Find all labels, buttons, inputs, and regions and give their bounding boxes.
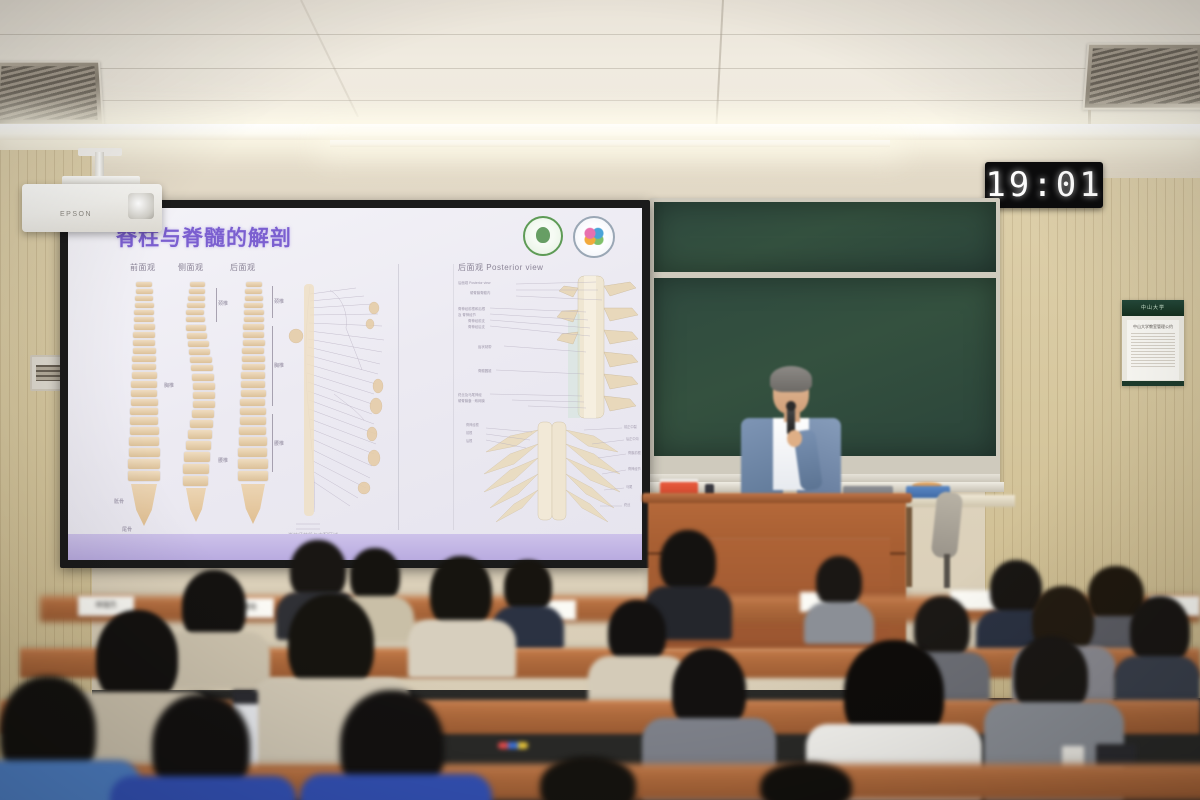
projector-lens-icon	[128, 193, 154, 219]
svg-text:脊神经节: 脊神经节	[628, 466, 642, 471]
ceiling-vent-left	[0, 61, 104, 126]
ceiling-vent-right	[1082, 43, 1200, 110]
projection-screen-frame: 脊柱与脊髓的解剖 前面观 侧面观 后面观	[60, 200, 650, 568]
svg-text:后正中沟: 后正中沟	[626, 436, 639, 441]
spine-label-coccyx: 尾骨	[122, 526, 132, 533]
svg-text:终丝: 终丝	[624, 502, 631, 507]
spinal-cord-posterior-diagram: 后面观 Posterior view 硬脊膜脊髓内 脊神经前根和后根 及 脊神经…	[456, 274, 642, 424]
projection-screen: 脊柱与脊髓的解剖 前面观 侧面观 后面观	[68, 208, 642, 560]
clock-time-display: 19:01	[985, 165, 1102, 205]
svg-text:脊神经后支: 脊神经后支	[468, 324, 486, 329]
svg-text:后根: 后根	[466, 438, 473, 443]
spine-label-thoracic: 胸椎	[164, 382, 174, 389]
audience-head	[660, 530, 716, 594]
marker-pens	[498, 742, 528, 749]
spine-anterior-view: 骶骨 尾骨	[128, 282, 162, 532]
ceiling-light-strip-secondary	[330, 140, 890, 147]
spine-view-caption-lateral: 侧面观	[178, 262, 204, 273]
svg-text:硬脊膜脊髓内: 硬脊膜脊髓内	[470, 290, 491, 295]
spine-label-cervical-posterior: 颈椎	[274, 298, 284, 305]
audience-head	[430, 556, 492, 630]
wall-notice-board: 中山大学 中山大学教室管理公约	[1122, 300, 1184, 386]
svg-text:终丝及马尾神经: 终丝及马尾神经	[458, 392, 482, 397]
university-seal-logo-icon	[523, 216, 563, 256]
svg-text:齿状韧带: 齿状韧带	[478, 344, 492, 349]
audience-body	[110, 776, 296, 800]
svg-text:马尾: 马尾	[626, 484, 632, 489]
office-chair	[928, 492, 970, 592]
notice-board-header: 中山大学	[1122, 300, 1184, 316]
cord-diagram-caption: 后面观 Posterior view	[458, 262, 543, 273]
svg-text:前正中裂: 前正中裂	[624, 424, 638, 429]
audience-body	[408, 620, 516, 678]
spine-label-lumbar: 腰椎	[218, 457, 228, 464]
ceiling-light-strip	[0, 124, 1200, 140]
svg-text:后面观 Posterior view: 后面观 Posterior view	[458, 280, 491, 285]
audience-head	[540, 756, 636, 800]
digital-clock: 19:01	[985, 162, 1103, 208]
spine-view-caption-anterior: 前面观	[130, 262, 156, 273]
svg-text:脊神经前支: 脊神经前支	[468, 318, 486, 323]
side-table-leg	[905, 507, 912, 587]
svg-text:脊神经根: 脊神经根	[466, 422, 480, 427]
speaker-hand	[787, 430, 802, 447]
audience-body	[804, 602, 874, 644]
speaker-hair	[770, 366, 812, 392]
blackboard-panel-upper	[654, 202, 996, 272]
ceiling-projector: EPSON	[22, 184, 162, 232]
audience-head	[760, 762, 852, 800]
spine-label-cervical: 颈椎	[218, 300, 228, 307]
spine-view-caption-posterior: 后面观	[230, 262, 256, 273]
svg-text:前根: 前根	[466, 430, 473, 435]
spinal-nerve-innervation-diagram	[286, 274, 404, 536]
svg-text:脊髓圆锥: 脊髓圆锥	[478, 368, 492, 373]
svg-text:硬脊膜囊 · 蛛网膜: 硬脊膜囊 · 蛛网膜	[458, 398, 485, 403]
spine-posterior-view: 颈椎 胸椎 腰椎	[236, 282, 276, 532]
svg-text:脊神经前根和后根: 脊神经前根和后根	[458, 306, 486, 311]
audience-body	[300, 774, 492, 800]
lecture-hall-scene: 19:01 中山大学 中山大学教室管理公约 脊柱与脊髓的解剖	[0, 0, 1200, 800]
svg-text:脊膜前根: 脊膜前根	[628, 450, 642, 455]
spine-lateral-view: 颈椎 胸椎 腰椎	[180, 282, 220, 532]
svg-text:及 脊神经节: 及 脊神经节	[458, 312, 477, 317]
projector-brand-label: EPSON	[60, 211, 92, 218]
spine-label-sacrum: 骶骨	[114, 498, 124, 505]
notice-board-sheet: 中山大学教室管理公约	[1127, 320, 1179, 380]
spinal-cord-cross-section-diagram: 脊神经根 前根 后根 前正中裂 后正中沟 脊膜前根 脊神经节 马尾 终丝	[466, 418, 642, 534]
slide-body: 前面观 侧面观 后面观	[68, 260, 642, 534]
slide-footer-band	[68, 534, 642, 560]
hospital-emblem-logo-icon	[573, 216, 615, 258]
spine-label-thoracic-posterior: 胸椎	[274, 362, 284, 369]
spine-label-lumbar-posterior: 腰椎	[274, 440, 284, 447]
audience-head	[816, 556, 862, 608]
